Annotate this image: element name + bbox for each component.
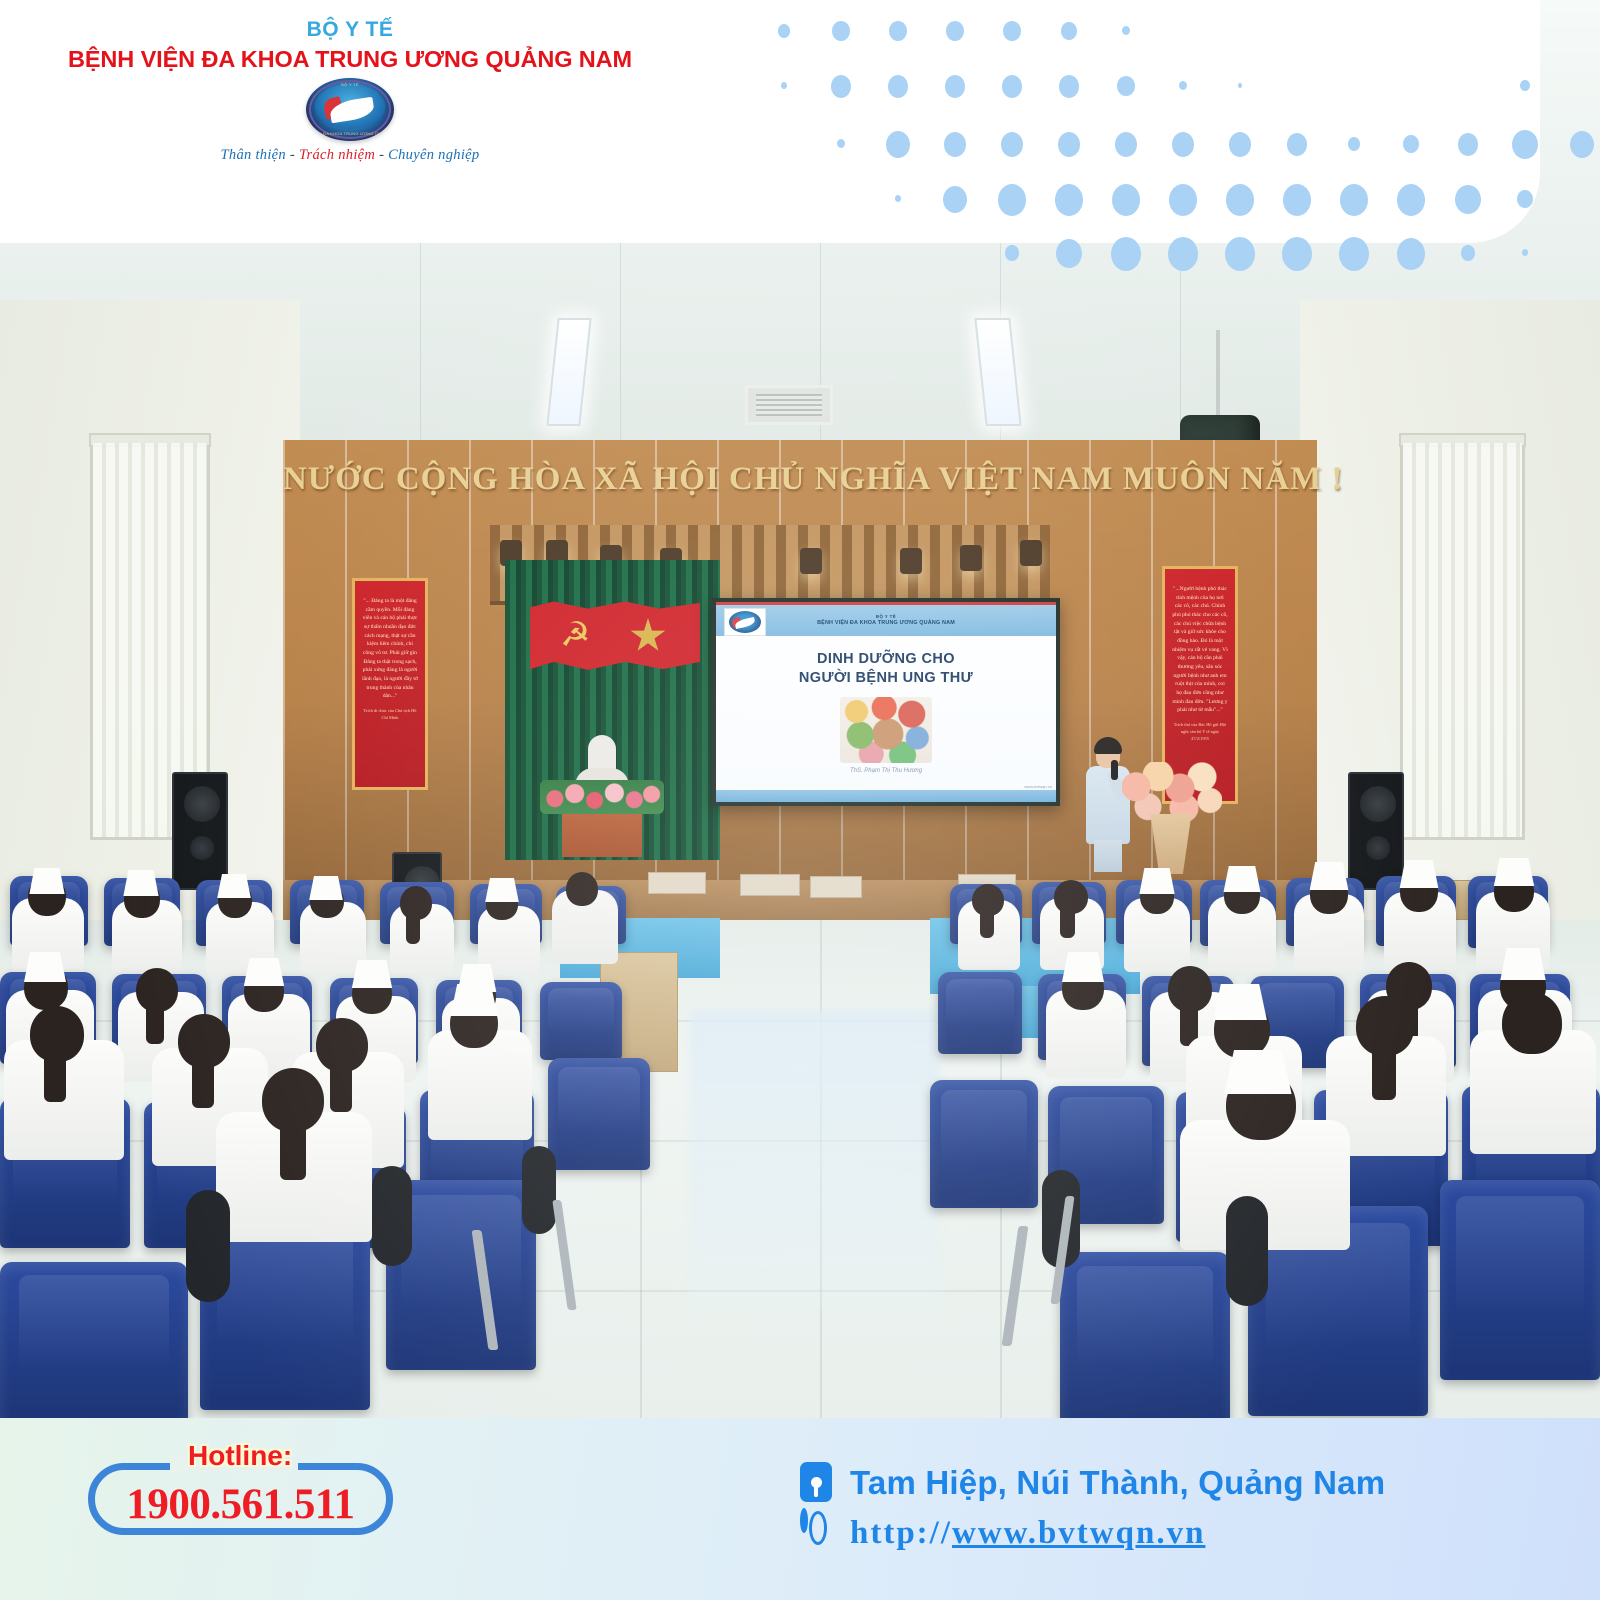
logo-top-text: BỘ Y TẾ (341, 82, 359, 87)
website-row[interactable]: http://www.bvtwqn.vn (800, 1512, 1385, 1554)
tagline-part1: Thân thiện (221, 147, 286, 163)
ministry-name: BỘ Y TẾ (0, 18, 700, 42)
contact-block: Tam Hiệp, Núi Thành, Quảng Nam http://ww… (800, 1462, 1385, 1562)
url-scheme: http:// (850, 1515, 952, 1551)
footer-bar: Hotline: 1900.561.511 Tam Hiệp, Núi Thàn… (0, 1418, 1600, 1600)
wall-slogan: NƯỚC CỘNG HÒA XÃ HỘI CHỦ NGHĨA VIỆT NAM … (283, 455, 1317, 503)
hospital-name: BỆNH VIỆN ĐA KHOA TRUNG ƯƠNG QUẢNG NAM (0, 46, 700, 73)
slide-floor-reflection (690, 1010, 940, 1310)
banner-left-attrib: Trích di chúc của Chủ tịch Hồ Chí Minh (362, 708, 418, 722)
auditorium-seat (540, 982, 622, 1060)
slide-hospital-logo-icon (724, 608, 766, 636)
banner-left-quote: "... Đảng ta là một đảng cầm quyền. Mỗi … (362, 597, 418, 701)
auditorium-seat (1440, 1180, 1600, 1380)
location-pin-icon (800, 1462, 834, 1504)
tagline-part2: Trách nhiệm (299, 147, 375, 163)
auditorium-seat (938, 972, 1022, 1054)
projector-rod (1216, 330, 1220, 420)
slide-org-line2: BỆNH VIỆN ĐA KHOA TRUNG ƯƠNG QUẢNG NAM (817, 620, 955, 627)
auditorium-seat (548, 1058, 650, 1170)
communist-party-flag-icon (530, 600, 700, 672)
auditorium-seat (1060, 1252, 1230, 1418)
hospital-bird-emblem-icon: BỘ Y TẾ BỆNH VIỆN ĐA KHOA TRUNG ƯƠNG QUẢ… (306, 78, 394, 141)
logo-arc-text: BỆNH VIỆN ĐA KHOA TRUNG ƯƠNG QUẢNG NAM (306, 131, 394, 136)
air-conditioner-vent (745, 385, 833, 425)
banner-right-attrib: Trích thư của Bác Hồ gửi Hội nghị cán bộ… (1172, 722, 1228, 742)
globe-icon (800, 1512, 834, 1554)
banner-left: "... Đảng ta là một đảng cầm quyền. Mỗi … (352, 578, 428, 790)
pedestal-flowers (540, 780, 664, 814)
slide-title-line1: DINH DƯỠNG CHO (716, 650, 1056, 669)
presentation-slide: BỘ Y TẾ BỆNH VIỆN ĐA KHOA TRUNG ƯƠNG QUẢ… (716, 602, 1056, 802)
address-text: Tam Hiệp, Núi Thành, Quảng Nam (850, 1464, 1385, 1502)
tagline-sep1: - (286, 147, 299, 163)
hotline-label: Hotline: (176, 1440, 304, 1472)
auditorium-seat (0, 1262, 188, 1418)
url-domain: www.bvtwqn.vn (952, 1515, 1205, 1551)
flower-arrangement (1128, 762, 1214, 872)
healthy-food-collage-icon (840, 697, 932, 763)
slide-url: www.bvtwqn.vn (1024, 784, 1052, 789)
pa-speaker-icon (1348, 772, 1404, 890)
pa-speaker-icon (172, 772, 228, 890)
tagline-part3: Chuyên nghiệp (388, 147, 479, 163)
slide-title-line2: NGƯỜI BỆNH UNG THƯ (716, 669, 1056, 688)
projection-screen: BỘ Y TẾ BỆNH VIỆN ĐA KHOA TRUNG ƯƠNG QUẢ… (712, 598, 1060, 806)
website-url[interactable]: http://www.bvtwqn.vn (850, 1515, 1205, 1552)
tagline-sep2: - (375, 147, 388, 163)
tagline: Thân thiện - Trách nhiệm - Chuyên nghiệp (0, 147, 700, 164)
slide-author: ThS. Phạm Thị Thu Hương (716, 768, 1056, 774)
auditorium-seat (930, 1080, 1038, 1208)
hammer-sickle-icon: ☭ (560, 618, 594, 652)
banner-right-quote: "...Người bệnh phó thác tính mệnh của họ… (1172, 585, 1228, 715)
address-row: Tam Hiệp, Núi Thành, Quảng Nam (800, 1462, 1385, 1504)
microphone-icon (1111, 760, 1118, 780)
brand-block: BỘ Y TẾ BỆNH VIỆN ĐA KHOA TRUNG ƯƠNG QUẢ… (0, 18, 700, 164)
window-right (1400, 440, 1525, 840)
hotline-number[interactable]: 1900.561.511 (88, 1480, 393, 1529)
